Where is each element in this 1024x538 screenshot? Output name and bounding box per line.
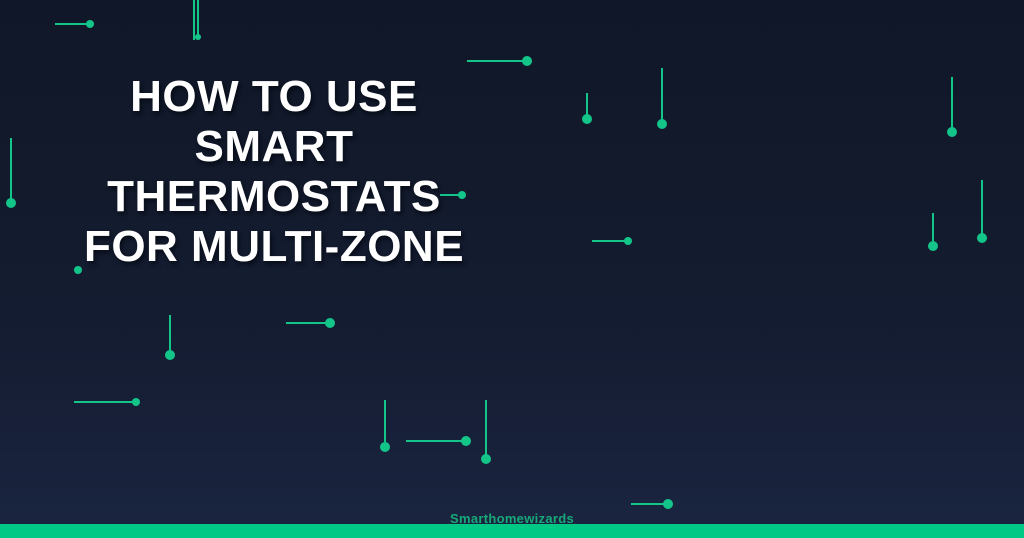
line-upper-right2-v	[661, 68, 663, 123]
line-title-top-v	[197, 0, 199, 36]
line-upper-right-v	[586, 93, 588, 119]
dot-mid-center	[624, 237, 632, 245]
title-line-2: SMART	[0, 122, 548, 172]
line-mid-left-v	[169, 315, 171, 352]
dot-title-top	[195, 34, 201, 40]
line-top-center-h	[467, 60, 527, 62]
dot-upper-right2	[657, 119, 667, 129]
line-right-tall-v	[981, 180, 983, 236]
dot-upper-right	[582, 114, 592, 124]
line-lower-left-h	[74, 401, 134, 403]
dot-top-left	[86, 20, 94, 28]
line-footer-right-h	[631, 503, 666, 505]
dot-mid-left	[165, 350, 175, 360]
line-top-mid-v	[193, 0, 195, 40]
dot-footer-right	[663, 499, 673, 509]
dot-mid-center2	[325, 318, 335, 328]
line-far-right-v	[951, 77, 953, 131]
line-top-left-h	[55, 23, 90, 25]
dot-lower-mid	[380, 442, 390, 452]
line-right-short-v	[932, 213, 934, 241]
page-title: HOW TO USE SMART THERMOSTATS FOR MULTI-Z…	[0, 72, 548, 272]
title-line-4: FOR MULTI-ZONE	[0, 222, 548, 272]
bottom-accent-bar	[0, 524, 1024, 538]
line-lower-mid-v	[384, 400, 386, 442]
dot-lower-mid2	[481, 454, 491, 464]
dot-right-tall	[977, 233, 987, 243]
line-lower-mid2-v	[485, 400, 487, 456]
line-mid-center2-h	[286, 322, 328, 324]
line-mid-center-h	[592, 240, 626, 242]
title-line-1: HOW TO USE	[0, 72, 548, 122]
line-lower-center-h	[406, 440, 464, 442]
dot-lower-center	[461, 436, 471, 446]
title-line-3: THERMOSTATS	[0, 172, 548, 222]
dot-right-short	[928, 241, 938, 251]
dot-far-right	[947, 127, 957, 137]
dot-lower-left	[132, 398, 140, 406]
dot-top-center	[522, 56, 532, 66]
poster-canvas: HOW TO USE SMART THERMOSTATS FOR MULTI-Z…	[0, 0, 1024, 538]
